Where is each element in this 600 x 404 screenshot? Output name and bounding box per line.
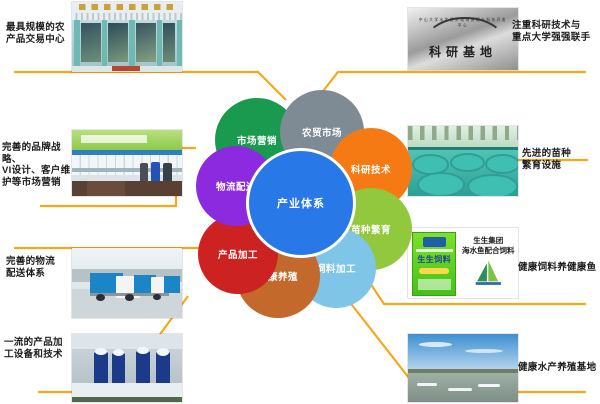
photo-processing-equipment — [72, 334, 182, 402]
bubble-center-label: 产业体系 — [277, 195, 325, 211]
photo-logistics-system — [72, 248, 182, 318]
bubble-marketing-label: 市场营销 — [237, 133, 277, 147]
feed-bag-title: 生生饲料 — [413, 254, 455, 265]
photo-breeding-facility — [408, 126, 518, 196]
caption-research-base: 注重科研技术与 重点大学强强联手 — [512, 20, 600, 43]
infographic-canvas: 中山大学水生经济动物资源与科技开发中心 科研基地 生生饲料 生生集 — [0, 0, 600, 404]
photo-brand-strategy — [72, 130, 182, 196]
feed-bag: 生生饲料 — [412, 232, 456, 296]
bubble-center-industry-system[interactable]: 产业体系 — [246, 148, 356, 258]
photo-aquaculture-base — [408, 334, 518, 402]
caption-trading-center: 最具规模的农 产品交易中心 — [6, 22, 72, 45]
connector-research-base — [316, 72, 586, 100]
bubble-research-label: 科研技术 — [351, 162, 391, 176]
connector-trading-center — [14, 72, 286, 100]
caption-processing-equipment: 一流的产品加 工设备和技术 — [4, 337, 72, 360]
caption-breeding-facility: 先进的苗种 繁育设施 — [522, 148, 600, 171]
bubble-feed-label: 饲料加工 — [316, 261, 356, 275]
caption-brand-strategy: 完善的品牌战略、 VI设计、客户维 护等市场营销 — [2, 142, 74, 188]
bubble-processing-label: 产品加工 — [218, 247, 258, 261]
plaque-arc-text: 中山大学水生经济动物资源与科技开发中心 — [418, 17, 508, 28]
sailboat-logo-icon — [474, 259, 503, 287]
caption-healthy-feed: 健康饲料养健康鱼 — [518, 262, 600, 274]
feed-brand-line-2: 海水鱼配合饲料 — [456, 245, 518, 256]
plaque-title: 科研基地 — [408, 43, 518, 60]
photo-research-base: 中山大学水生经济动物资源与科技开发中心 科研基地 — [408, 8, 518, 70]
caption-aquaculture-base: 健康水产养殖基地 — [518, 362, 600, 374]
photo-trading-center — [72, 2, 182, 72]
bubble-market-label: 农贸市场 — [302, 125, 342, 139]
caption-logistics-system: 完善的物流 配送体系 — [6, 256, 72, 279]
photo-healthy-feed: 生生饲料 生生集团 海水鱼配合饲料 — [408, 228, 518, 298]
